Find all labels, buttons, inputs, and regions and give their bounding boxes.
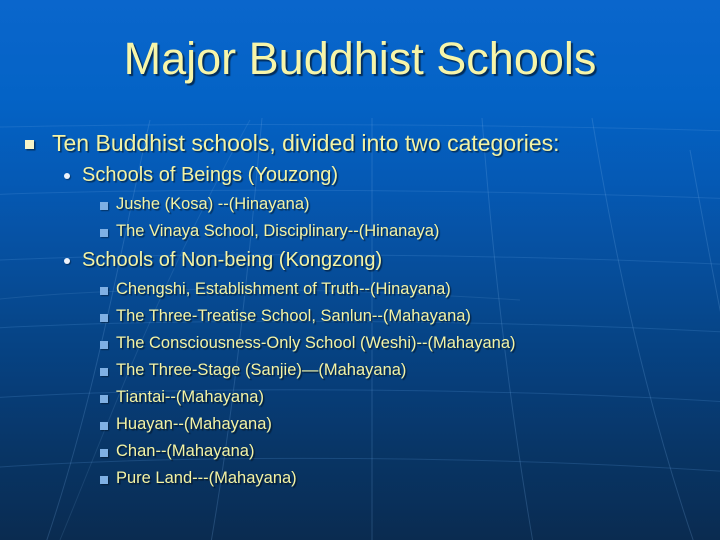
bullet-square-small-icon: [100, 368, 108, 376]
list-item: Chengshi, Establishment of Truth--(Hinay…: [0, 277, 720, 304]
list-item: Huayan--(Mahayana): [0, 412, 720, 439]
bullet-square-small-icon: [100, 287, 108, 295]
list-item-text: The Three-Treatise School, Sanlun--(Maha…: [116, 304, 471, 329]
list-item-text: Chengshi, Establishment of Truth--(Hinay…: [116, 277, 451, 302]
list-item-text: Ten Buddhist schools, divided into two c…: [52, 128, 560, 159]
bullet-square-small-icon: [100, 476, 108, 484]
bullet-square-small-icon: [100, 449, 108, 457]
bullet-dot-icon: [64, 258, 70, 264]
list-item: The Consciousness-Only School (Weshi)--(…: [0, 331, 720, 358]
list-item: Pure Land---(Mahayana): [0, 466, 720, 493]
list-item: Chan--(Mahayana): [0, 439, 720, 466]
list-item: Jushe (Kosa) --(Hinayana): [0, 192, 720, 219]
list-item-text: Schools of Non-being (Kongzong): [82, 246, 382, 275]
bullet-square-small-icon: [100, 341, 108, 349]
list-item: The Vinaya School, Disciplinary--(Hinana…: [0, 219, 720, 246]
list-item-text: The Vinaya School, Disciplinary--(Hinana…: [116, 219, 439, 244]
bullet-square-icon: [25, 140, 34, 149]
bullet-square-small-icon: [100, 422, 108, 430]
list-item: Tiantai--(Mahayana): [0, 385, 720, 412]
slide-body-list: Ten Buddhist schools, divided into two c…: [0, 128, 720, 493]
list-item-text: Schools of Beings (Youzong): [82, 161, 338, 190]
list-item: Schools of Non-being (Kongzong): [0, 246, 720, 277]
list-item-text: Tiantai--(Mahayana): [116, 385, 264, 410]
slide-title: Major Buddhist Schools: [0, 34, 720, 84]
list-item: The Three-Treatise School, Sanlun--(Maha…: [0, 304, 720, 331]
bullet-square-small-icon: [100, 229, 108, 237]
list-item-text: The Consciousness-Only School (Weshi)--(…: [116, 331, 516, 356]
list-item-text: Chan--(Mahayana): [116, 439, 254, 464]
bullet-square-small-icon: [100, 202, 108, 210]
list-item-text: The Three-Stage (Sanjie)—(Mahayana): [116, 358, 406, 383]
bullet-dot-icon: [64, 173, 70, 179]
list-item-text: Pure Land---(Mahayana): [116, 466, 297, 491]
list-item: The Three-Stage (Sanjie)—(Mahayana): [0, 358, 720, 385]
bullet-square-small-icon: [100, 395, 108, 403]
list-item-text: Jushe (Kosa) --(Hinayana): [116, 192, 310, 217]
list-item: Schools of Beings (Youzong): [0, 161, 720, 192]
bullet-square-small-icon: [100, 314, 108, 322]
list-item-text: Huayan--(Mahayana): [116, 412, 272, 437]
presentation-slide: Major Buddhist Schools Ten Buddhist scho…: [0, 0, 720, 540]
list-item: Ten Buddhist schools, divided into two c…: [0, 128, 720, 161]
